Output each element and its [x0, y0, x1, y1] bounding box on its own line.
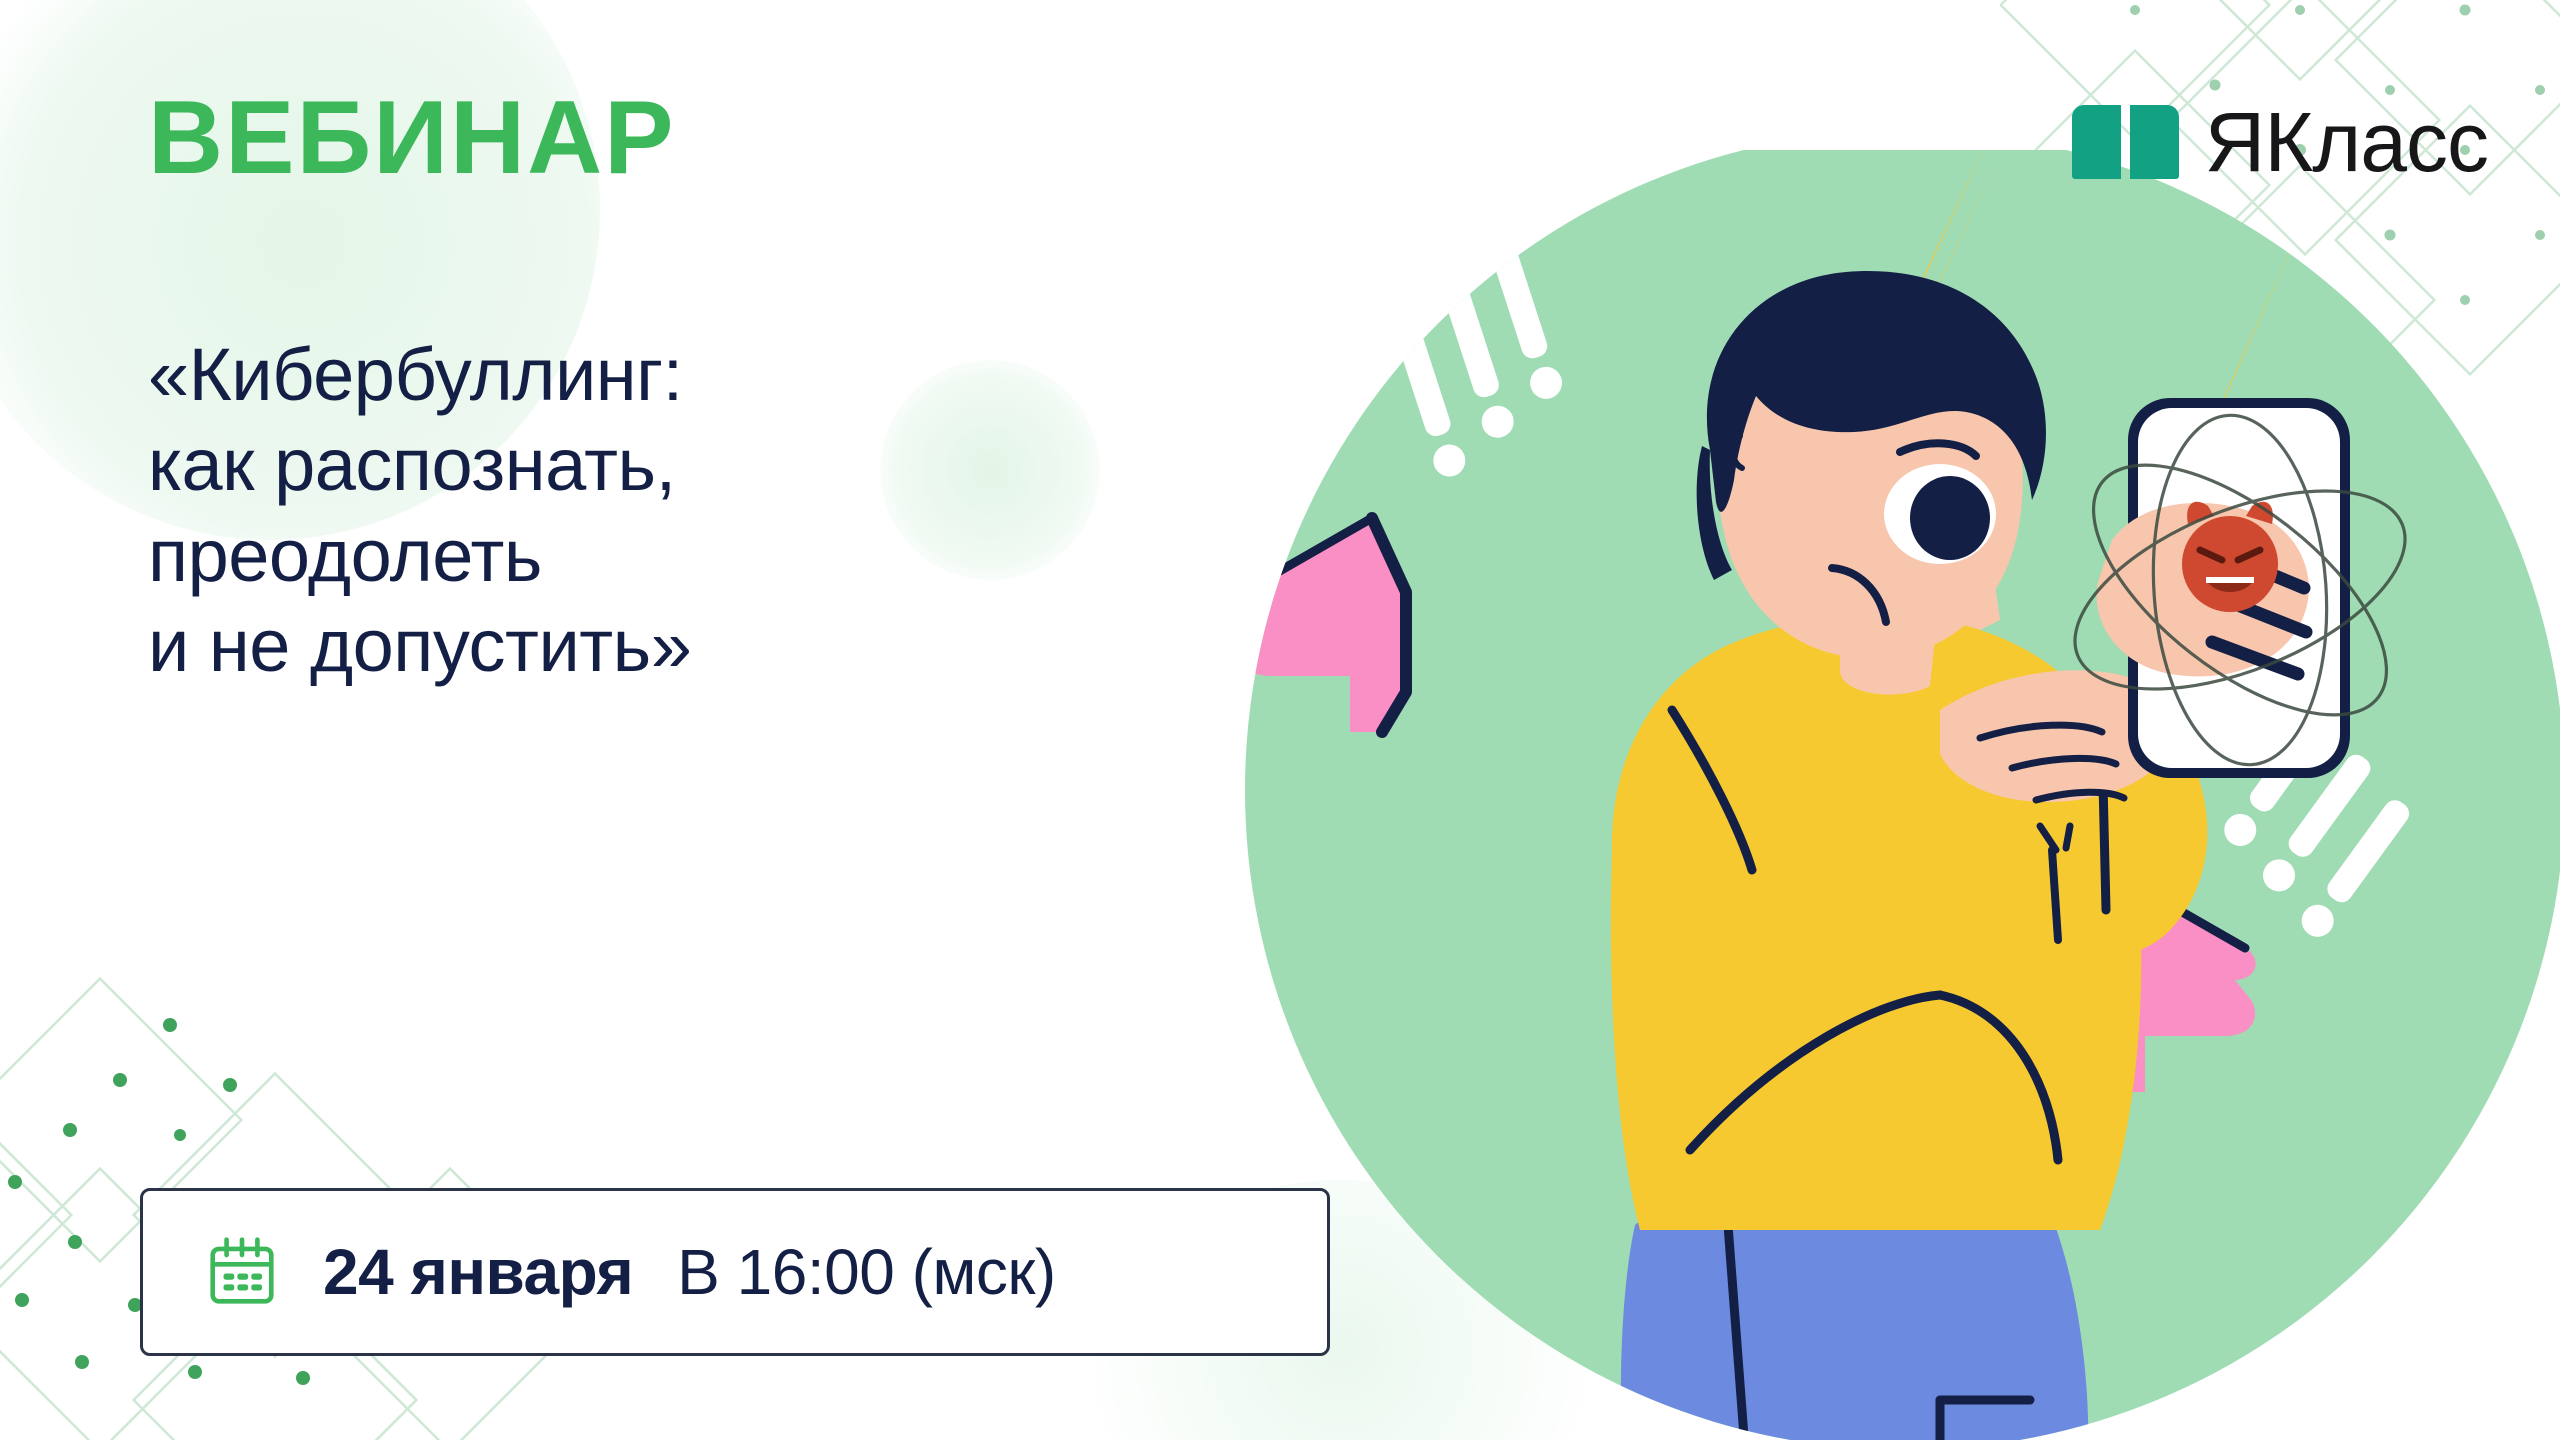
calendar-icon	[205, 1235, 279, 1309]
book-page-left	[2072, 105, 2121, 179]
teen-with-phone-illustration	[1240, 150, 2560, 1440]
webinar-banner: ВЕБИНАР «Кибербуллинг: как распознать, п…	[0, 0, 2560, 1440]
book-page-right	[2130, 105, 2179, 179]
soft-blob-small	[880, 360, 1100, 580]
devil-emoji	[2182, 502, 2278, 612]
page-title: «Кибербуллинг: как распознать, преодолет…	[148, 330, 691, 691]
open-book-icon	[2072, 105, 2179, 179]
webinar-date-card: 24 января В 16:00 (мск)	[140, 1188, 1330, 1356]
kicker-webinar: ВЕБИНАР	[148, 86, 676, 190]
yaklass-logo[interactable]: ЯКласс	[2072, 100, 2488, 184]
logo-text: ЯКласс	[2205, 100, 2488, 184]
character-pupil	[1910, 476, 1990, 560]
webinar-time: В 16:00 (мск)	[677, 1235, 1056, 1309]
devil-face	[2182, 516, 2278, 612]
webinar-date: 24 января	[323, 1235, 633, 1309]
